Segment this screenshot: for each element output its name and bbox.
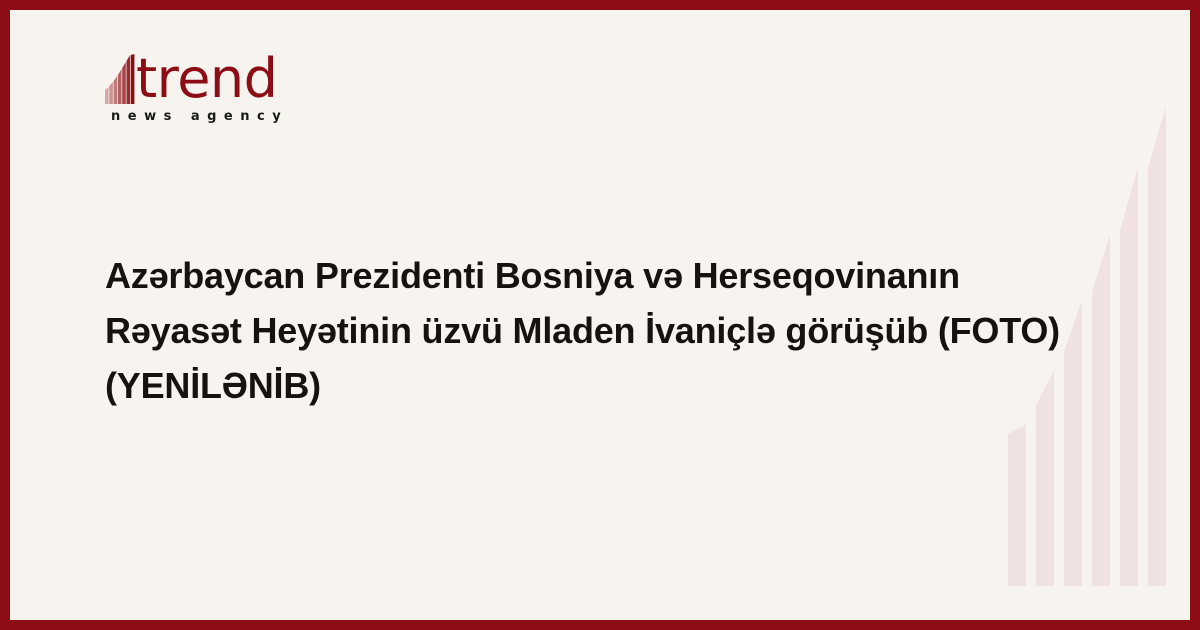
logo-tagline: news agency bbox=[111, 109, 288, 124]
ascending-bars-icon bbox=[105, 54, 135, 104]
headline-line-1: Azərbaycan Prezidenti Bosniya və Herseqo… bbox=[105, 248, 1105, 303]
logo-wordmark: trend bbox=[136, 54, 277, 104]
headline-line-2: Rəyasət Heyətinin üzvü Mladen İvaniçlə g… bbox=[105, 303, 1105, 358]
logo-row: trend bbox=[105, 52, 288, 104]
headline-line-3: (YENİLƏNİB) bbox=[105, 358, 1105, 413]
brand-logo: trend news agency bbox=[105, 52, 288, 124]
page-title: Azərbaycan Prezidenti Bosniya və Herseqo… bbox=[105, 248, 1105, 413]
og-share-card: trend news agency Azərbaycan Prezidenti … bbox=[0, 0, 1200, 630]
